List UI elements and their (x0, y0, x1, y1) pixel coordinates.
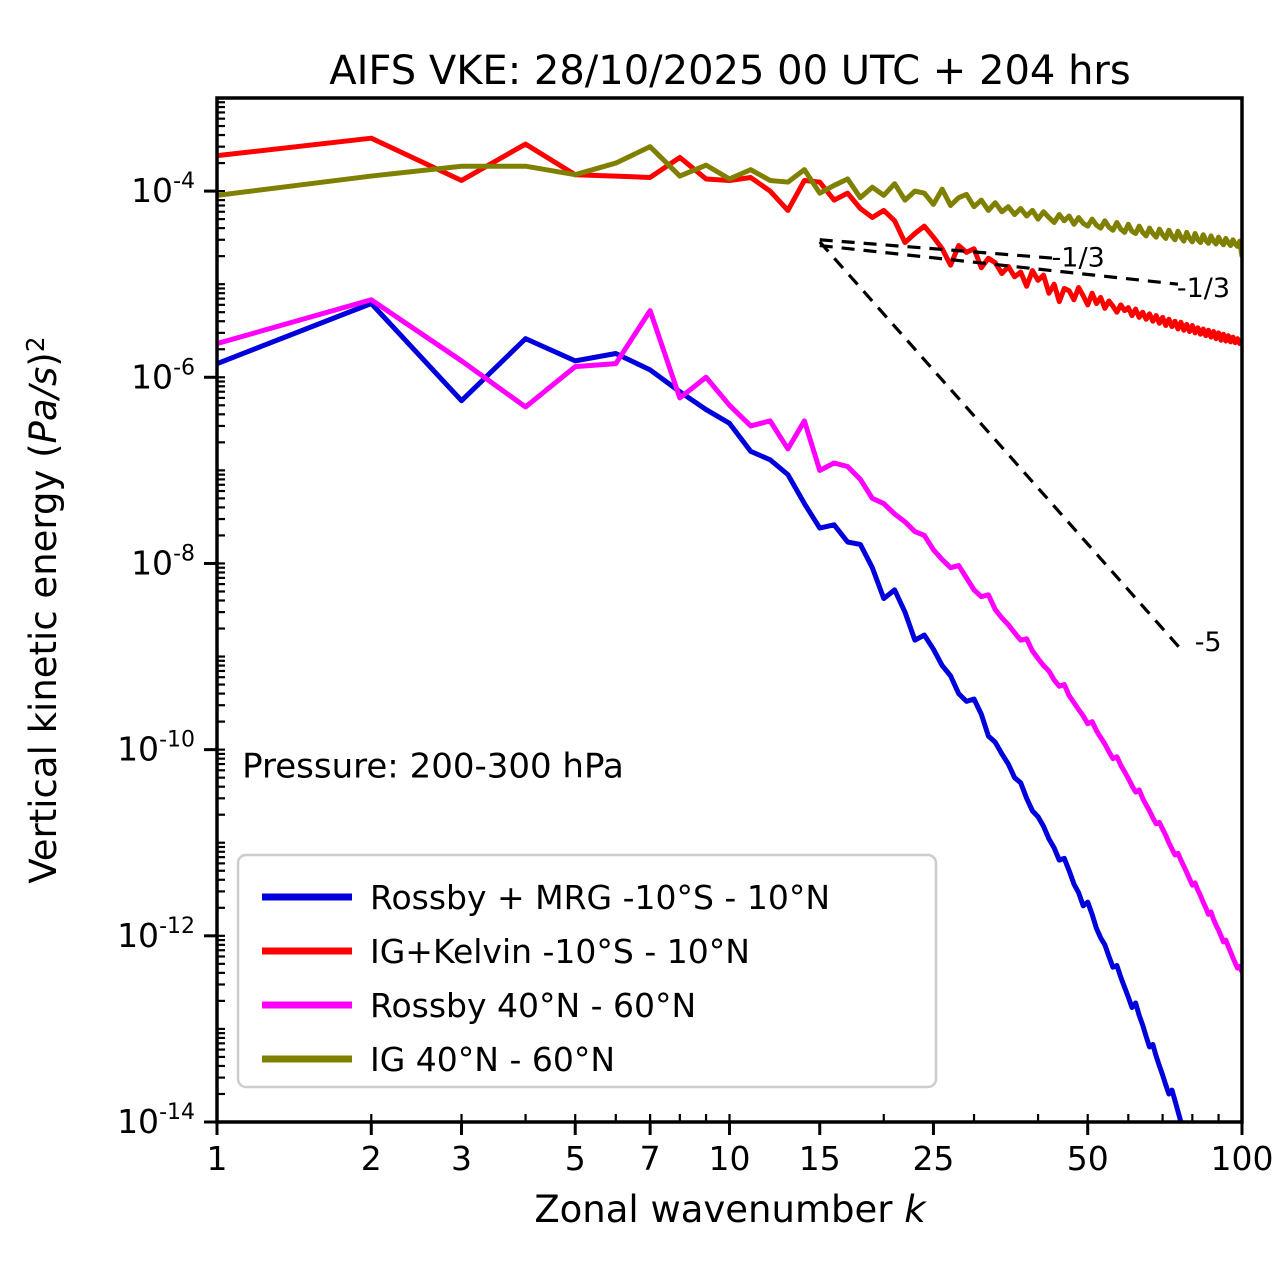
x-tick-label: 7 (640, 1139, 661, 1178)
chart-title: AIFS VKE: 28/10/2025 00 UTC + 204 hrs (329, 48, 1130, 94)
y-tick-mantissa: 10 (131, 543, 173, 582)
slope-annotation-minus5: -5 (1195, 627, 1222, 658)
y-axis-label: Vertical kinetic energy (Pa/s)2 (21, 336, 65, 883)
x-tick-label: 2 (361, 1139, 382, 1178)
legend-label-3: IG 40°N - 60°N (370, 1040, 615, 1079)
y-tick-exponent: -4 (173, 169, 195, 194)
slope-annotation-upper: -1/3 (1052, 242, 1105, 273)
y-axis-label-prefix: Vertical kinetic energy ( (22, 443, 65, 883)
y-tick-exponent: -14 (159, 1100, 195, 1125)
pressure-annotation: Pressure: 200-300 hPa (242, 747, 624, 787)
y-tick-label: 10-14 (117, 1100, 195, 1141)
y-tick-label: 10-6 (131, 355, 195, 396)
legend-label-0: Rossby + MRG -10°S - 10°N (370, 878, 830, 917)
y-tick-exponent: -12 (159, 914, 195, 939)
y-tick-label: 10-8 (131, 541, 195, 582)
y-tick-mantissa: 10 (117, 730, 159, 769)
x-tick-label: 5 (565, 1139, 586, 1178)
x-tick-label: 10 (709, 1139, 751, 1178)
chart-legend: Rossby + MRG -10°S - 10°NIG+Kelvin -10°S… (238, 855, 936, 1087)
y-tick-label: 10-10 (117, 728, 195, 769)
y-tick-mantissa: 10 (117, 1102, 159, 1141)
x-axis-label-symbol: k (904, 1188, 927, 1231)
y-tick-mantissa: 10 (131, 171, 173, 210)
svg-text:Vertical kinetic energy (Pa/s): Vertical kinetic energy (Pa/s)2 (21, 336, 65, 883)
legend-label-1: IG+Kelvin -10°S - 10°N (370, 932, 750, 971)
y-tick-mantissa: 10 (131, 357, 173, 396)
x-tick-label: 50 (1067, 1139, 1109, 1178)
x-axis-label-prefix: Zonal wavenumber (534, 1188, 904, 1231)
x-tick-label: 100 (1211, 1139, 1274, 1178)
x-tick-label: 1 (207, 1139, 228, 1178)
chart-figure: AIFS VKE: 28/10/2025 00 UTC + 204 hrs 12… (0, 0, 1280, 1288)
x-tick-label: 15 (799, 1139, 841, 1178)
x-tick-label: 25 (912, 1139, 954, 1178)
y-tick-label: 10-12 (117, 914, 195, 955)
y-axis-label-exponent: 2 (21, 336, 50, 352)
y-tick-mantissa: 10 (117, 916, 159, 955)
chart-canvas: AIFS VKE: 28/10/2025 00 UTC + 204 hrs 12… (0, 0, 1280, 1288)
y-axis-label-suffix: ) (22, 352, 65, 366)
x-tick-label: 3 (451, 1139, 472, 1178)
y-tick-exponent: -8 (173, 541, 195, 566)
y-tick-label: 10-4 (131, 169, 195, 210)
y-tick-exponent: -6 (173, 355, 195, 380)
slope-annotation-lower: -1/3 (1177, 273, 1230, 304)
y-axis-ticks: 10-410-610-810-1010-1210-14 (117, 98, 225, 1141)
x-axis-label: Zonal wavenumber k (534, 1188, 927, 1231)
y-tick-exponent: -10 (159, 728, 195, 753)
legend-label-2: Rossby 40°N - 60°N (370, 986, 696, 1025)
y-axis-label-units: Pa/s (22, 367, 65, 444)
